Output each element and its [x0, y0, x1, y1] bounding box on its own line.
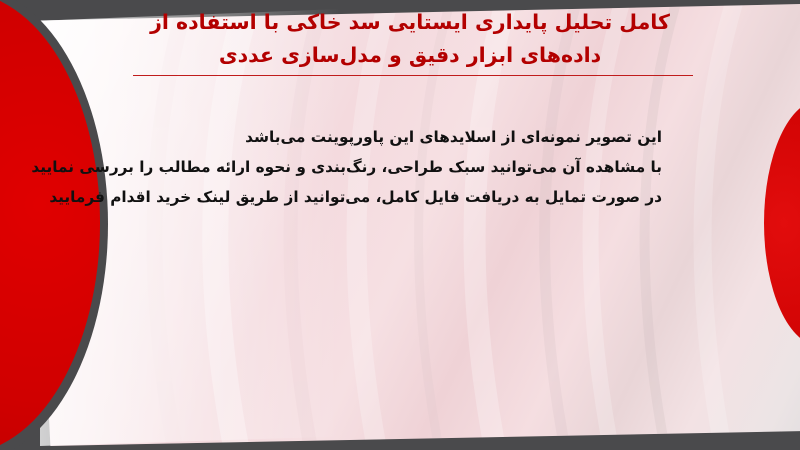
- slide-title: کامل تحلیل پایداری ایستایی سد خاکی با اس…: [100, 6, 720, 72]
- slide-body-text: این تصویر نمونه‌ای از اسلایدهای این پاور…: [31, 122, 662, 212]
- body-line-1: این تصویر نمونه‌ای از اسلایدهای این پاور…: [31, 122, 662, 152]
- title-underline: [133, 75, 693, 76]
- slide-title-line-1: کامل تحلیل پایداری ایستایی سد خاکی با اس…: [100, 6, 720, 39]
- slide-canvas: کامل تحلیل پایداری ایستایی سد خاکی با اس…: [0, 0, 800, 450]
- body-line-3: در صورت تمایل به دریافت فایل کامل، می‌تو…: [31, 182, 662, 212]
- body-line-2: با مشاهده آن می‌توانید سبک طراحی، رنگ‌بن…: [31, 152, 662, 182]
- slide-title-line-2: داده‌های ابزار دقیق و مدل‌سازی عددی: [100, 39, 720, 72]
